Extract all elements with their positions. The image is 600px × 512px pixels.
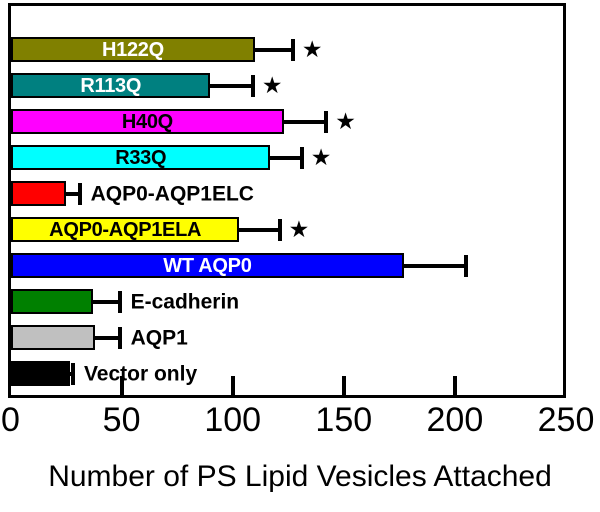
error-bar-whisker	[255, 48, 295, 52]
error-bar-cap	[324, 111, 328, 133]
significance-star: ★	[262, 74, 283, 97]
x-tick-label: 0	[1, 403, 20, 437]
x-tick-label: 200	[427, 403, 484, 437]
bar-row: AQP0-AQP1ELA★	[11, 217, 563, 242]
error-bar-cap	[278, 219, 282, 241]
bar-label: WT AQP0	[163, 256, 251, 276]
error-bar	[404, 255, 468, 277]
x-tick	[120, 376, 124, 395]
significance-star: ★	[302, 38, 323, 61]
bar-h122q[interactable]: H122Q	[11, 37, 255, 62]
bar-label: R113Q	[80, 76, 141, 96]
significance-star: ★	[311, 146, 332, 169]
x-tick	[342, 376, 346, 395]
error-bar-whisker	[270, 156, 303, 160]
error-bar	[66, 183, 82, 205]
error-bar-cap	[78, 183, 82, 205]
bar-label: H122Q	[102, 40, 164, 60]
x-tick	[231, 376, 235, 395]
bars-layer: H122Q★R113Q★H40Q★R33Q★AQP0-AQP1ELCAQP0-A…	[11, 6, 563, 395]
bar-row: Vector only	[11, 361, 563, 386]
x-tick	[453, 376, 457, 395]
bar-aqp1[interactable]	[11, 325, 95, 350]
error-bar	[95, 327, 122, 349]
error-bar-cap	[118, 291, 122, 313]
bar-row: AQP1	[11, 325, 563, 350]
error-bar-cap	[291, 39, 295, 61]
error-bar-cap	[464, 255, 468, 277]
error-bar-cap	[300, 147, 304, 169]
bar-r113q[interactable]: R113Q	[11, 73, 210, 98]
bar-label: AQP0-AQP1ELA	[49, 220, 201, 240]
error-bar	[93, 291, 122, 313]
error-bar-cap	[71, 363, 75, 385]
error-bar	[270, 147, 303, 169]
error-bar	[284, 111, 328, 133]
bar-label: AQP1	[131, 327, 188, 348]
bar-vector-only[interactable]	[11, 361, 70, 386]
bar-e-cadherin[interactable]	[11, 289, 93, 314]
bar-row: R33Q★	[11, 145, 563, 170]
bar-label: H40Q	[122, 112, 173, 132]
bar-row: WT AQP0	[11, 253, 563, 278]
bar-row: R113Q★	[11, 73, 563, 98]
bar-aqp0-aqp1ela[interactable]: AQP0-AQP1ELA	[11, 217, 239, 242]
bar-label: Vector only	[84, 363, 197, 384]
error-bar-whisker	[284, 120, 328, 124]
bar-h40q[interactable]: H40Q	[11, 109, 284, 134]
bar-label: AQP0-AQP1ELC	[91, 183, 254, 204]
plot-area: H122Q★R113Q★H40Q★R33Q★AQP0-AQP1ELCAQP0-A…	[8, 3, 566, 398]
error-bar	[255, 39, 295, 61]
x-axis-title: Number of PS Lipid Vesicles Attached	[0, 462, 600, 492]
error-bar-whisker	[404, 264, 468, 268]
bar-row: E-cadherin	[11, 289, 563, 314]
bar-chart-figure: H122Q★R113Q★H40Q★R33Q★AQP0-AQP1ELCAQP0-A…	[0, 0, 600, 512]
bar-r33q[interactable]: R33Q	[11, 145, 270, 170]
error-bar-whisker	[210, 84, 254, 88]
bar-label: E-cadherin	[131, 291, 240, 312]
x-tick-label: 50	[103, 403, 141, 437]
x-tick-label: 100	[204, 403, 261, 437]
significance-star: ★	[289, 218, 310, 241]
x-tick-label: 250	[538, 403, 595, 437]
error-bar-whisker	[239, 228, 281, 232]
bar-wt-aqp0[interactable]: WT AQP0	[11, 253, 404, 278]
bar-aqp0-aqp1elc[interactable]	[11, 181, 66, 206]
bar-row: AQP0-AQP1ELC	[11, 181, 563, 206]
error-bar	[210, 75, 254, 97]
error-bar	[70, 363, 74, 385]
bar-row: H40Q★	[11, 109, 563, 134]
significance-star: ★	[335, 110, 356, 133]
bar-row: H122Q★	[11, 37, 563, 62]
bar-label: R33Q	[115, 148, 166, 168]
x-tick-label: 150	[315, 403, 372, 437]
error-bar-cap	[251, 75, 255, 97]
error-bar-cap	[118, 327, 122, 349]
error-bar	[239, 219, 281, 241]
